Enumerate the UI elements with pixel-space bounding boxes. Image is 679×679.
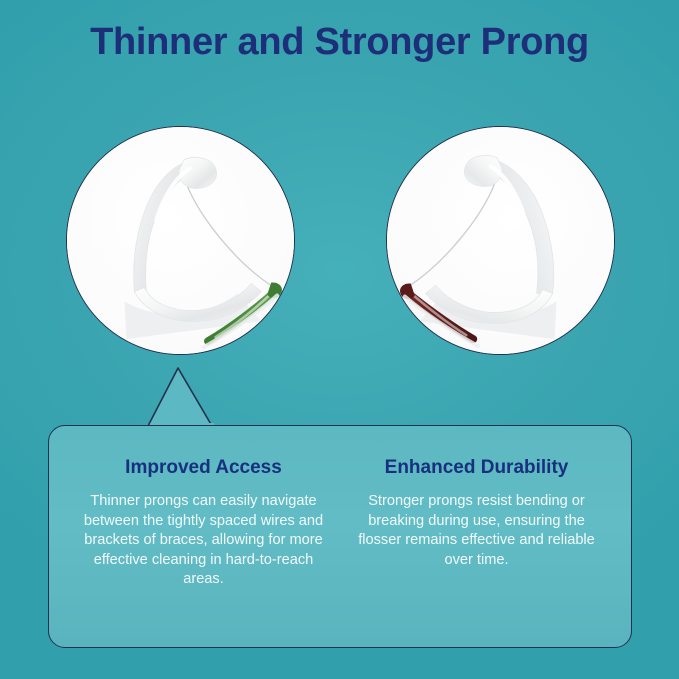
stronger-prong-illustration bbox=[387, 127, 614, 354]
benefit-column-enhanced-durability: Enhanced Durability Stronger prongs resi… bbox=[340, 456, 613, 631]
thinner-prong-illustration bbox=[67, 127, 294, 354]
benefit-heading: Enhanced Durability bbox=[352, 456, 601, 480]
infographic-root: Thinner and Stronger Prong bbox=[0, 0, 679, 679]
benefits-callout: Improved Access Thinner prongs can easil… bbox=[48, 425, 632, 648]
benefit-body: Thinner prongs can easily navigate betwe… bbox=[79, 492, 328, 590]
benefit-heading: Improved Access bbox=[79, 456, 328, 480]
benefit-body: Stronger prongs resist bending or breaki… bbox=[352, 492, 601, 570]
callout-pointer bbox=[148, 366, 218, 428]
pointer-triangle-icon bbox=[148, 366, 218, 428]
figure-stronger-prong bbox=[386, 126, 615, 355]
figure-thinner-prong bbox=[66, 126, 295, 355]
page-title: Thinner and Stronger Prong bbox=[0, 16, 679, 68]
benefit-column-improved-access: Improved Access Thinner prongs can easil… bbox=[67, 456, 340, 631]
